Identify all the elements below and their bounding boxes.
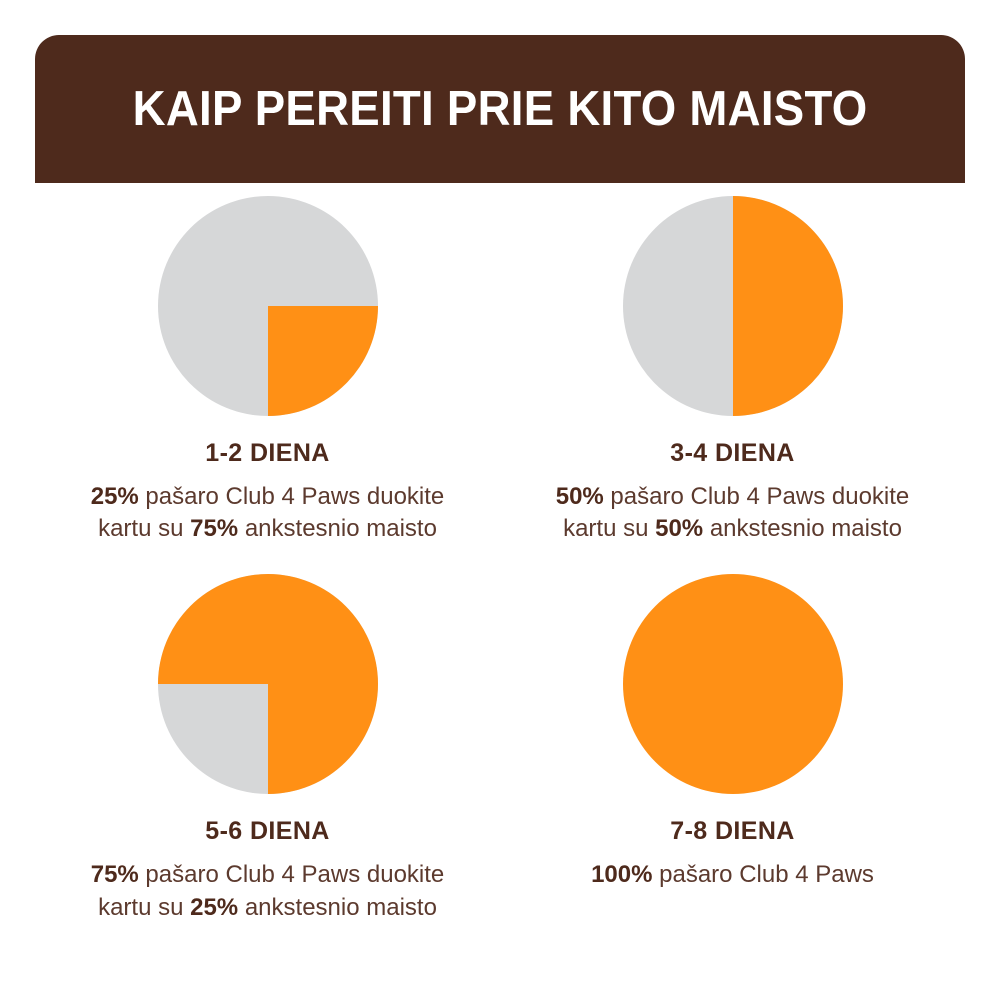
step-body-line1-rest-2: pašaro Club 4 Paws [604, 483, 825, 510]
step-body-line3-3: ankstesnio maisto [245, 894, 437, 921]
pie-chart-3-wrap [158, 574, 378, 794]
pie-slice-old-food-4 [623, 574, 843, 794]
step-body-line1-rest-4: pašaro [652, 861, 732, 888]
pie-slice-new-food-1 [268, 306, 378, 416]
step-card-3: 5-6 DIENA 75% pašaro Club 4 Paws duokite… [35, 574, 500, 924]
header-banner: KAIP PEREITI PRIE KITO MAISTO [35, 35, 965, 183]
step-card-4: 7-8 DIENA 100% pašaro Club 4 Paws [500, 574, 965, 924]
step-body-2: 50% pašaro Club 4 Paws duokite kartu su … [543, 481, 923, 547]
step-body-line1-rest-3: pašaro Club 4 Paws [139, 861, 360, 888]
step-card-2: 3-4 DIENA 50% pašaro Club 4 Paws duokite… [500, 196, 965, 546]
page-title: KAIP PEREITI PRIE KITO MAISTO [133, 85, 868, 134]
pie-chart-2 [623, 196, 843, 416]
step-heading-3: 5-6 DIENA [205, 818, 329, 846]
step-new-food-percent-3: 75% [91, 861, 139, 888]
pie-chart-1-wrap [158, 196, 378, 416]
pie-chart-4-wrap [623, 574, 843, 794]
step-card-1: 1-2 DIENA 25% pašaro Club 4 Paws duokite… [35, 196, 500, 546]
step-new-food-percent-2: 50% [556, 483, 604, 510]
infographic-poster: KAIP PEREITI PRIE KITO MAISTO 1-2 DIENA … [0, 0, 1000, 1000]
pie-chart-1 [158, 196, 378, 416]
pie-slice-new-food-2 [733, 196, 843, 416]
step-body-line3-1: ankstesnio maisto [245, 515, 437, 542]
step-body-4: 100% pašaro Club 4 Paws [591, 859, 874, 892]
step-heading-2: 3-4 DIENA [670, 440, 794, 468]
step-body-1: 25% pašaro Club 4 Paws duokite kartu su … [78, 481, 458, 547]
step-new-food-percent-1: 25% [91, 483, 139, 510]
step-body-line1-rest-1: pašaro Club 4 Paws [139, 483, 360, 510]
step-body-line2-prefix-4: Club 4 Paws [739, 861, 874, 888]
pie-chart-3 [158, 574, 378, 794]
step-old-food-percent-2: 50% [655, 515, 703, 542]
step-body-3: 75% pašaro Club 4 Paws duokite kartu su … [78, 859, 458, 925]
pie-chart-4 [623, 574, 843, 794]
step-old-food-percent-1: 75% [190, 515, 238, 542]
steps-grid: 1-2 DIENA 25% pašaro Club 4 Paws duokite… [35, 196, 965, 925]
pie-chart-2-wrap [623, 196, 843, 416]
step-old-food-percent-3: 25% [190, 894, 238, 921]
step-body-line3-2: ankstesnio maisto [710, 515, 902, 542]
step-heading-1: 1-2 DIENA [205, 440, 329, 468]
step-new-food-percent-4: 100% [591, 861, 652, 888]
step-heading-4: 7-8 DIENA [670, 818, 794, 846]
